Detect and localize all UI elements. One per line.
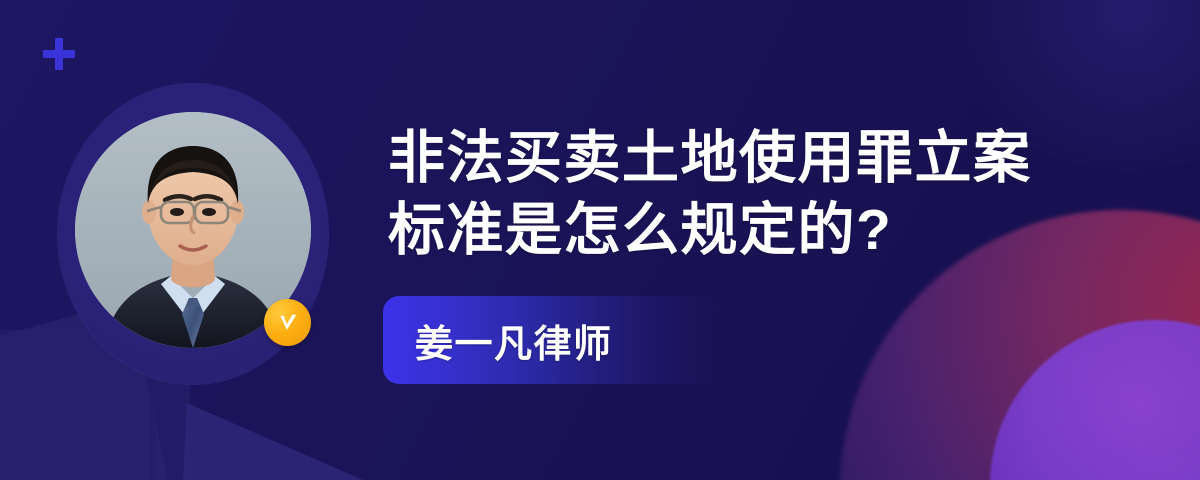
plus-icon: [43, 38, 75, 70]
lawyer-question-banner: 非法买卖土地使用罪立案 标准是怎么规定的? 姜一凡律师: [0, 0, 1200, 480]
background-shape-edge: [150, 385, 156, 480]
verified-check-glyph: [275, 310, 301, 336]
author-name-label: 姜一凡律师: [383, 313, 613, 368]
verified-v-icon: [264, 299, 311, 346]
page-title: 非法买卖土地使用罪立案 标准是怎么规定的?: [388, 122, 1148, 266]
avatar: [58, 84, 328, 384]
headline-block: 非法买卖土地使用罪立案 标准是怎么规定的?: [388, 122, 1148, 266]
author-name-badge: 姜一凡律师: [383, 296, 719, 384]
plus-icon-bar-vertical: [55, 38, 63, 70]
